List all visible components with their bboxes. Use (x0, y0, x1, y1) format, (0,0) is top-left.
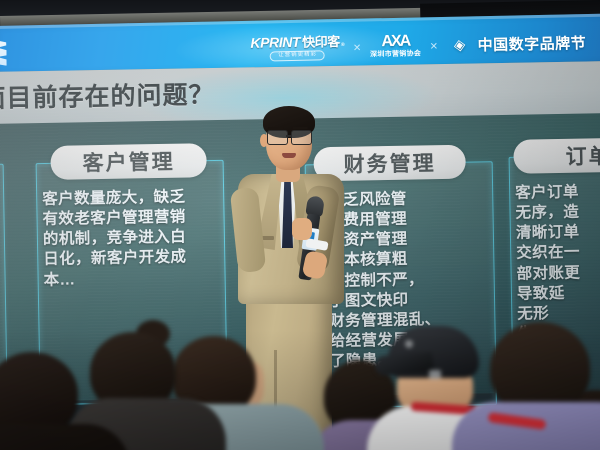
eyeglass-lens-left (267, 130, 288, 145)
eyeglasses-icon (266, 130, 312, 143)
conference-photo: KPRINT 快印客 ® 让营销更精彩 × AXA 深圳市营销协会 × ◈ 中国… (0, 0, 600, 450)
logo-kprint-latin: KPRINT (250, 35, 300, 50)
speaker-eyebrow-left (268, 127, 284, 129)
logo-sma-emblem: AXA (381, 34, 409, 51)
audience-member (470, 322, 600, 450)
audience-member (0, 352, 118, 450)
speaker-mouth (282, 153, 296, 158)
speaker-hand-left (292, 218, 312, 240)
logo-cdbf-chinese: 中国数字品牌节 (477, 32, 586, 55)
audience-head (490, 322, 590, 414)
logo-kprint-chinese: 快印客 (302, 35, 340, 49)
speaker-eyebrow-right (292, 127, 308, 129)
brand-festival-emblem-icon: ◈ (445, 33, 474, 57)
cap-logo (405, 340, 413, 348)
cap-strap (429, 370, 441, 379)
eyeglass-lens-right (291, 130, 312, 145)
audience-torso (0, 424, 130, 450)
logo-separator-1: × (344, 39, 370, 55)
logo-separator-2: × (421, 37, 447, 53)
logo-sma-chinese: 深圳市营销协会 (370, 50, 421, 58)
logo-kprint-tagline: 让营销更精彩 (270, 51, 325, 62)
logo-kprint-wordmark: KPRINT 快印客 ® (250, 34, 344, 50)
